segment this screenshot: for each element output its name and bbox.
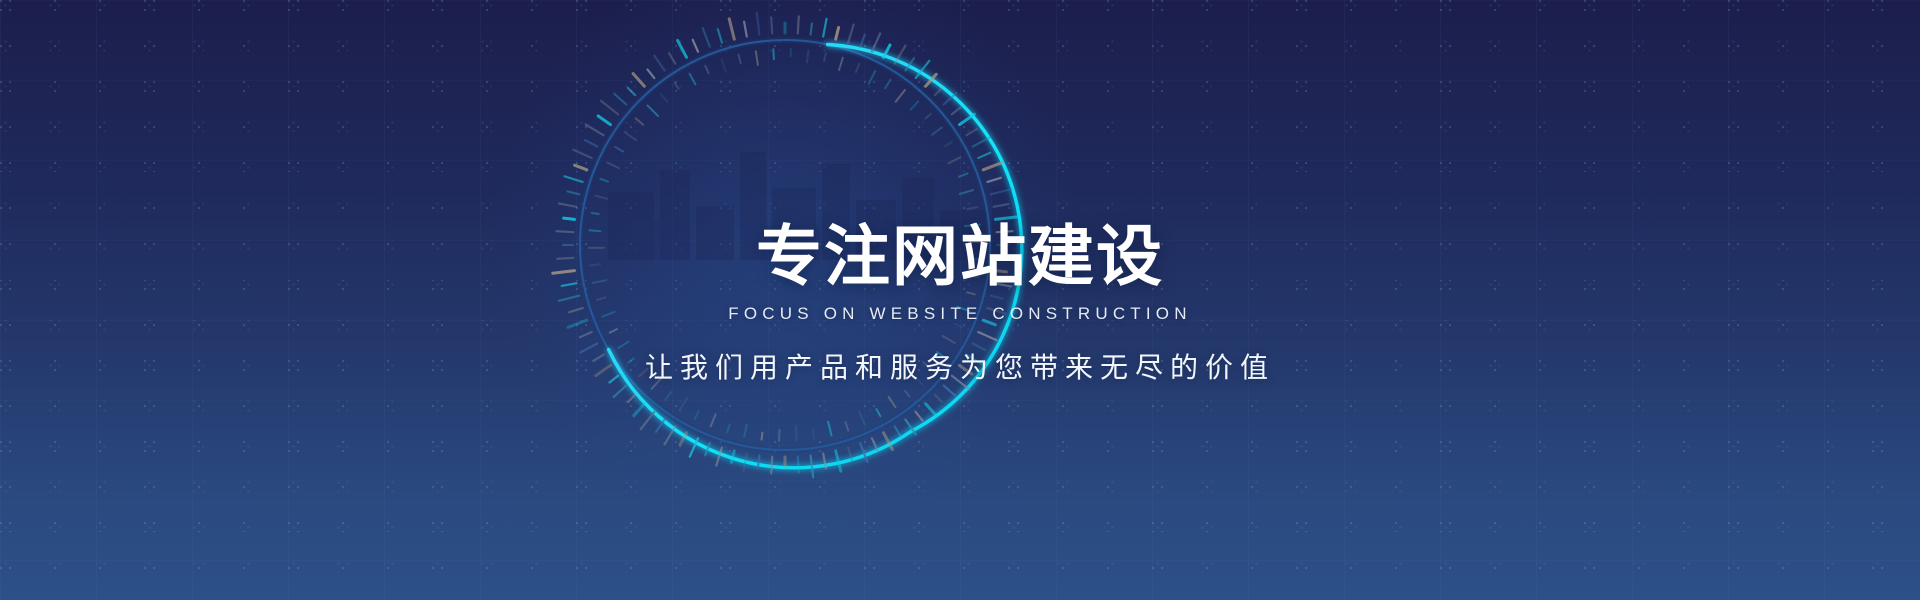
page-title: 专注网站建设 xyxy=(0,222,1920,291)
tagline: 让我们用产品和服务为您带来无尽的价值 xyxy=(0,346,1920,386)
banner-text-block: 专注网站建设 FOCUS ON WEBSITE CONSTRUCTION 让我们… xyxy=(0,222,1920,386)
hero-banner: 专注网站建设 FOCUS ON WEBSITE CONSTRUCTION 让我们… xyxy=(0,0,1920,600)
subtitle-english: FOCUS ON WEBSITE CONSTRUCTION xyxy=(0,304,1920,324)
